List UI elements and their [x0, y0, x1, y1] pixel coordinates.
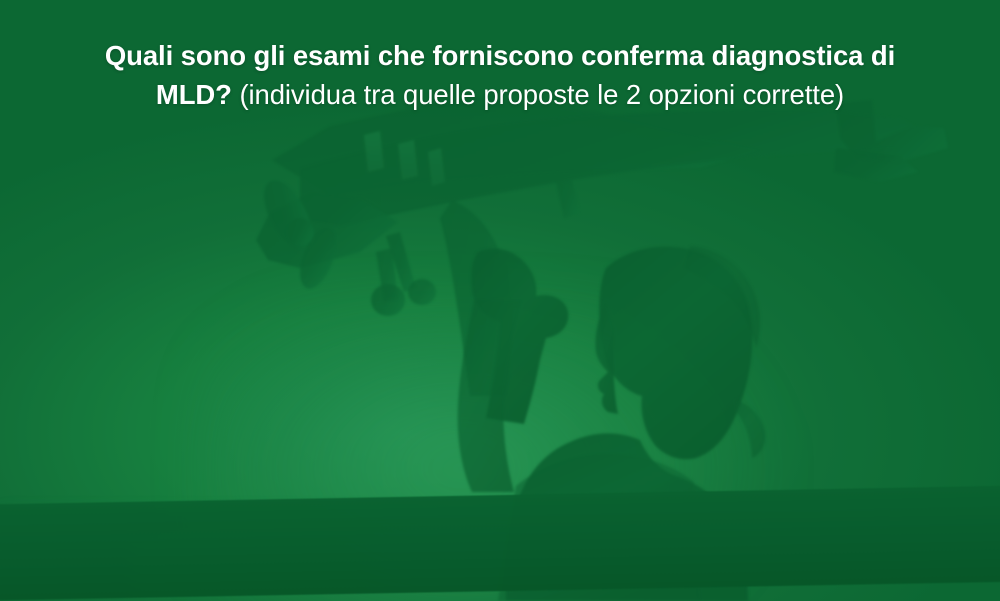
page-title: Quali sono gli esami che forniscono conf…	[0, 36, 1000, 114]
title-line-1: Quali sono gli esami che forniscono conf…	[64, 36, 936, 75]
question-text-part1: Quali sono gli esami che forniscono conf…	[105, 40, 895, 71]
quiz-slide: Quali sono gli esami che forniscono conf…	[0, 0, 1000, 601]
title-line-2: MLD? (individua tra quelle proposte le 2…	[64, 75, 936, 114]
horizon-line	[0, 485, 1000, 601]
question-text-part2: MLD?	[156, 79, 232, 110]
instruction-text: (individua tra quelle proposte le 2 opzi…	[239, 79, 844, 110]
